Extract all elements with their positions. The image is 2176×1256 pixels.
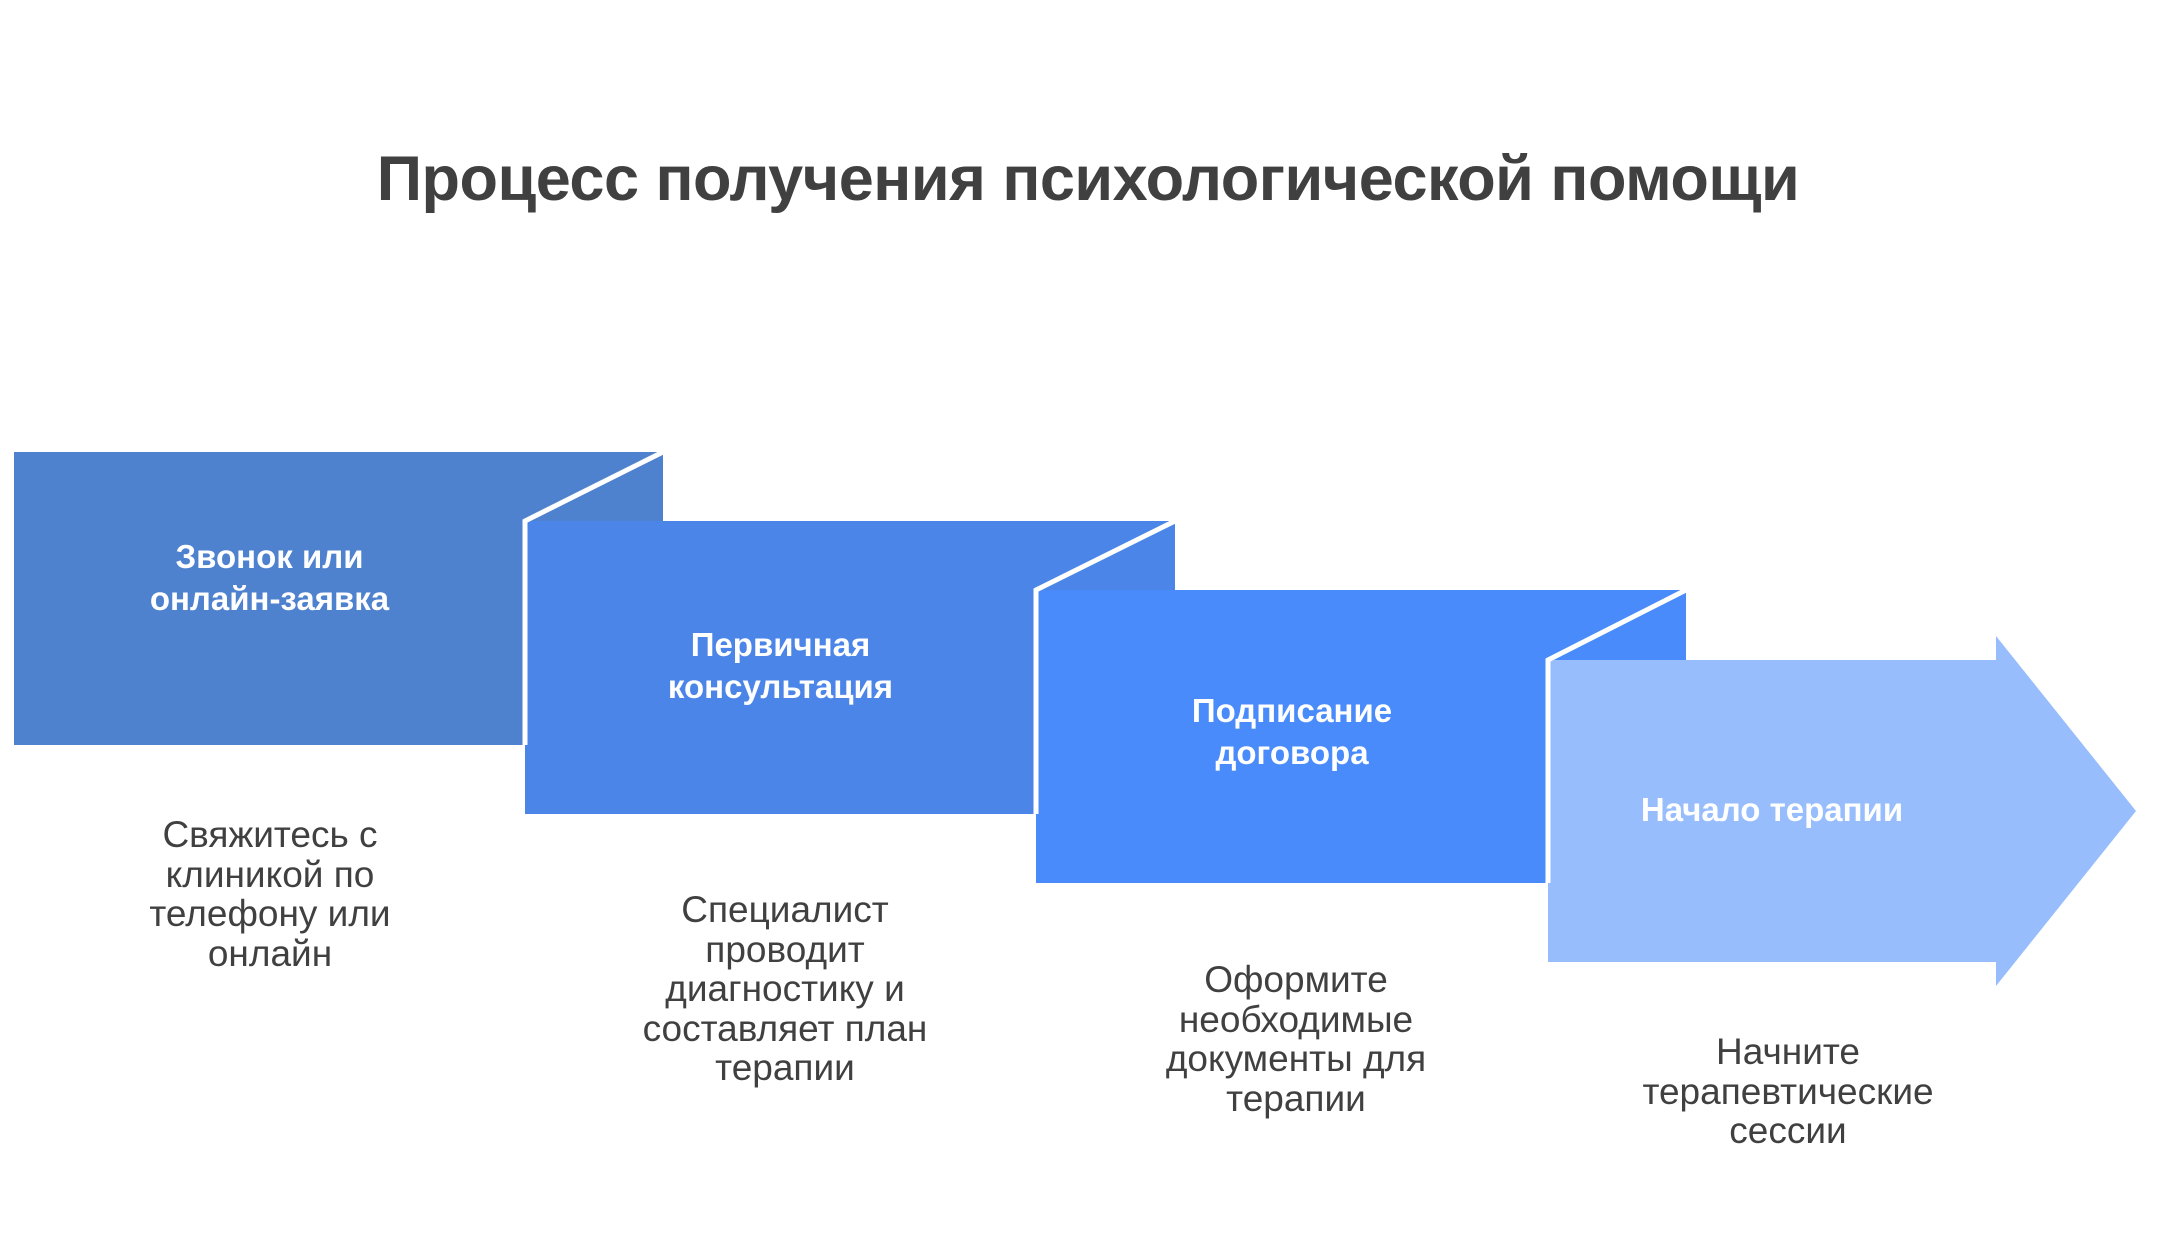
- step-4-caption: Начните терапевтические сессии: [1568, 1032, 2008, 1151]
- step-4-shape[interactable]: [1548, 636, 2136, 986]
- step-2-caption: Специалист проводит диагностику и состав…: [545, 890, 1025, 1088]
- slide-canvas: Процесс получения психологической помощи…: [0, 0, 2176, 1256]
- step-3-caption: Оформите необходимые документы для терап…: [1056, 960, 1536, 1118]
- step-1-caption: Свяжитесь с клиникой по телефону или онл…: [30, 815, 510, 973]
